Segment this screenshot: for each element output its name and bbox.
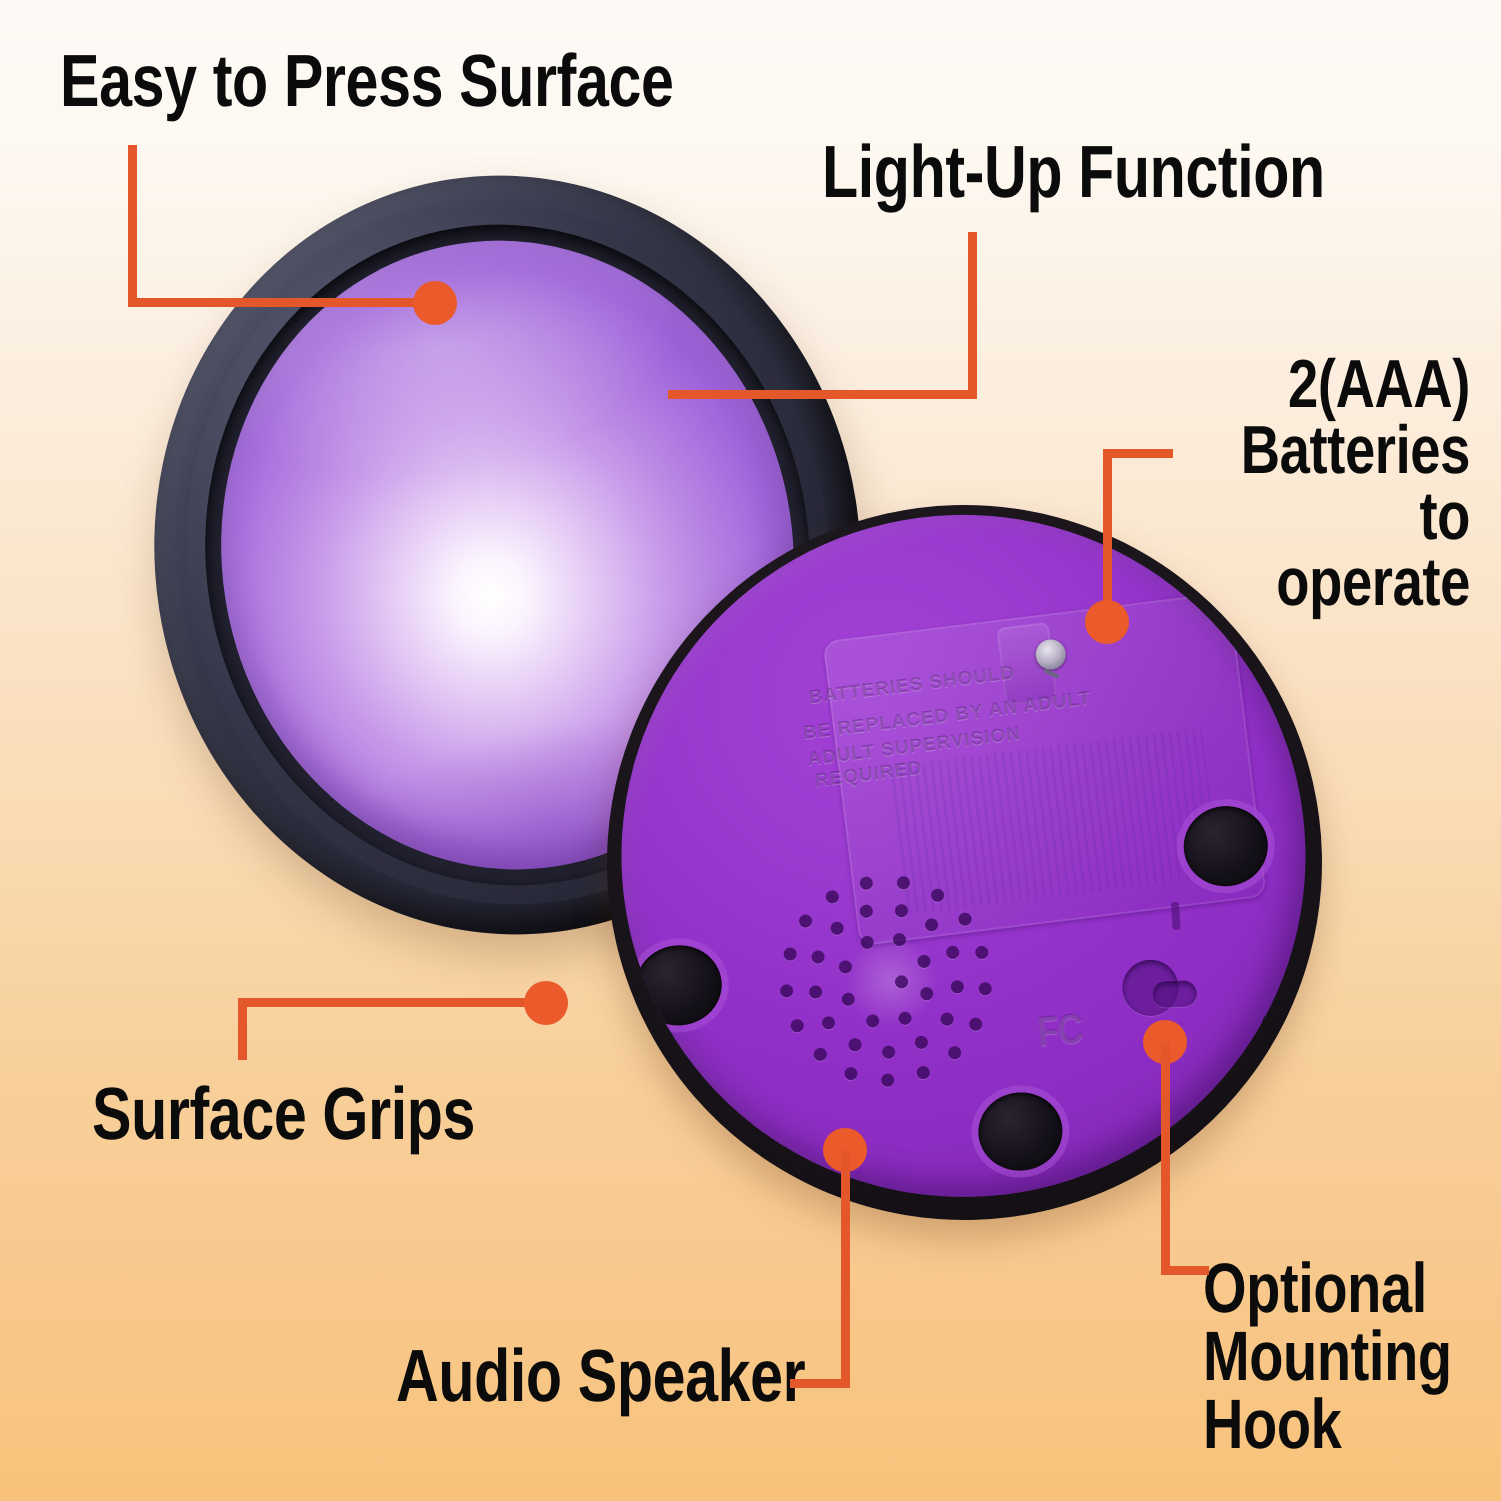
- speaker-grille-hole: [975, 945, 989, 959]
- speaker-grille-hole: [947, 1046, 961, 1060]
- speaker-grille-hole: [780, 984, 794, 998]
- leader-surface-grips-horizontal: [238, 998, 550, 1007]
- callout-dot-batteries: [1085, 600, 1129, 644]
- speaker-grille-hole: [799, 914, 813, 928]
- leader-mounting-hook-horizontal: [1161, 1266, 1209, 1275]
- callout-dot-surface-grips: [524, 981, 568, 1025]
- callout-label-light-up-function: Light-Up Function: [822, 136, 1325, 208]
- grille-center-glow: [841, 931, 940, 1030]
- speaker-grille-hole: [866, 1014, 880, 1028]
- speaker-grille-hole: [822, 1016, 836, 1030]
- speaker-grille-hole: [826, 890, 840, 904]
- speaker-grille-hole: [830, 922, 844, 936]
- speaker-grille-hole: [898, 1012, 912, 1026]
- leader-light-up-vertical: [968, 232, 977, 398]
- speaker-grille-hole: [848, 1038, 862, 1052]
- speaker-grille-hole: [882, 1045, 896, 1059]
- audio-speaker-grille: [762, 857, 1010, 1105]
- speaker-grille-hole: [809, 985, 823, 999]
- leader-surface-grips-vertical: [238, 998, 247, 1060]
- mounting-hook-keyhole: [1121, 958, 1209, 1023]
- leader-audio-speaker-vertical: [841, 1150, 850, 1388]
- leader-easy-press-horizontal: [128, 298, 440, 307]
- leader-audio-speaker-horizontal: [790, 1379, 850, 1388]
- callout-label-optional-mounting-hook: Optional Mounting Hook: [1203, 1255, 1452, 1459]
- callout-dot-easy-to-press-surface: [413, 281, 457, 325]
- speaker-grille-hole: [951, 980, 965, 994]
- speaker-grille-hole: [783, 947, 797, 961]
- speaker-grille-hole: [979, 982, 993, 996]
- speaker-grille-hole: [969, 1017, 983, 1031]
- leader-batteries-horizontal: [1103, 449, 1173, 458]
- callout-label-easy-to-press-surface: Easy to Press Surface: [60, 45, 674, 117]
- speaker-grille-hole: [916, 1066, 930, 1080]
- speaker-grille-hole: [811, 950, 825, 964]
- infographic-canvas: BATTERIES SHOULD BE REPLACED BY AN ADULT…: [0, 0, 1501, 1501]
- callout-label-audio-speaker: Audio Speaker: [396, 1340, 805, 1412]
- speaker-grille-hole: [915, 1036, 929, 1050]
- speaker-grille-hole: [844, 1067, 858, 1081]
- speaker-grille-hole: [945, 946, 959, 960]
- speaker-grille-hole: [813, 1048, 827, 1062]
- callout-label-surface-grips: Surface Grips: [92, 1078, 475, 1150]
- speaker-grille-hole: [925, 918, 939, 932]
- product-back-underside: BATTERIES SHOULD BE REPLACED BY AN ADULT…: [583, 481, 1346, 1244]
- callout-label-batteries: 2(AAA) Batteries to operate: [1238, 352, 1470, 616]
- leader-mounting-hook-vertical: [1161, 1042, 1170, 1274]
- leader-light-up-horizontal: [668, 390, 977, 399]
- speaker-grille-hole: [860, 905, 874, 919]
- keyhole-slot: [1152, 980, 1197, 1008]
- leader-batteries-vertical: [1103, 449, 1112, 621]
- speaker-grille-hole: [791, 1019, 805, 1033]
- speaker-grille-hole: [881, 1073, 895, 1087]
- compliance-mark: FC: [1035, 1005, 1083, 1057]
- speaker-grille-hole: [940, 1012, 954, 1026]
- leader-easy-press-vertical: [128, 145, 137, 307]
- speaker-grille-hole: [860, 876, 874, 890]
- speaker-grille-hole: [894, 904, 908, 918]
- speaker-grille-hole: [958, 913, 972, 927]
- speaker-grille-hole: [931, 888, 945, 902]
- speaker-grille-hole: [896, 875, 910, 889]
